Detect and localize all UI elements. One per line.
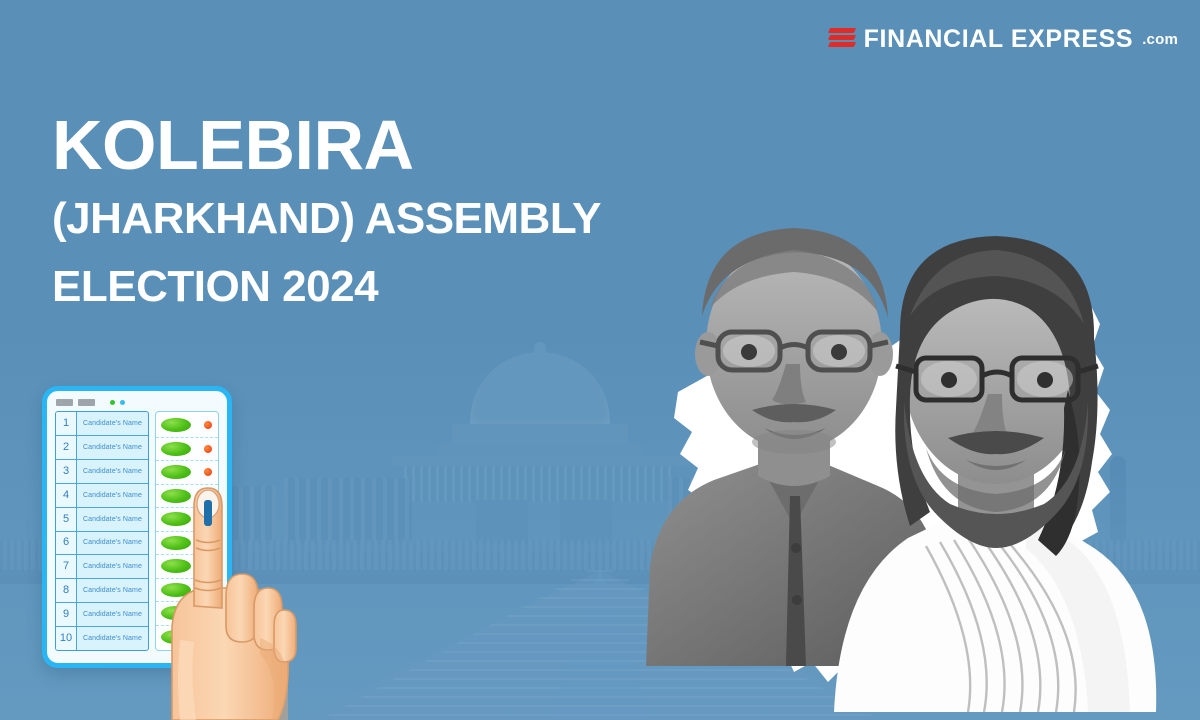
evm-candidate-name: Candidate's Name bbox=[77, 539, 148, 546]
evm-candidate-list: 1 Candidate's Name 2 Candidate's Name 3 … bbox=[55, 411, 149, 651]
evm-candidate-row[interactable]: 9 Candidate's Name bbox=[56, 603, 148, 627]
evm-candidate-row[interactable]: 4 Candidate's Name bbox=[56, 484, 148, 508]
page-title: KOLEBIRA (JHARKHAND) ASSEMBLY ELECTION 2… bbox=[52, 106, 672, 320]
evm-candidate-number: 6 bbox=[56, 532, 77, 555]
evm-candidate-number: 9 bbox=[56, 603, 77, 626]
brand-logo[interactable]: FINANCIAL EXPRESS .com bbox=[829, 22, 1178, 56]
evm-vote-led-icon bbox=[204, 421, 212, 429]
headline-line-3: ELECTION 2024 bbox=[52, 254, 672, 320]
evm-power-led-icon bbox=[110, 400, 115, 405]
evm-candidate-name: Candidate's Name bbox=[77, 516, 148, 523]
evm-slot-icon bbox=[78, 399, 95, 406]
headline-line-1: KOLEBIRA bbox=[52, 106, 672, 184]
evm-candidate-name: Candidate's Name bbox=[77, 420, 148, 427]
evm-candidate-name: Candidate's Name bbox=[77, 635, 148, 642]
evm-ready-led-icon bbox=[120, 400, 125, 405]
evm-candidate-number: 5 bbox=[56, 508, 77, 531]
headline-line-2: (JHARKHAND) ASSEMBLY bbox=[52, 184, 672, 254]
evm-candidate-row[interactable]: 6 Candidate's Name bbox=[56, 532, 148, 556]
pointing-hand-icon bbox=[172, 488, 296, 720]
evm-slot-icon bbox=[56, 399, 73, 406]
brand-suffix: .com bbox=[1142, 31, 1178, 48]
evm-candidate-name: Candidate's Name bbox=[77, 468, 148, 475]
evm-vote-button[interactable] bbox=[161, 442, 191, 456]
backdrop-left-wing bbox=[284, 478, 412, 544]
evm-candidate-row[interactable]: 10 Candidate's Name bbox=[56, 627, 148, 650]
evm-candidate-row[interactable]: 7 Candidate's Name bbox=[56, 555, 148, 579]
evm-candidate-name: Candidate's Name bbox=[77, 563, 148, 570]
evm-candidate-name: Candidate's Name bbox=[77, 492, 148, 499]
evm-candidate-row[interactable]: 2 Candidate's Name bbox=[56, 436, 148, 460]
voter-ink-mark-icon bbox=[204, 500, 212, 526]
evm-candidate-row[interactable]: 1 Candidate's Name bbox=[56, 412, 148, 436]
poster-canvas: 1 Candidate's Name 2 Candidate's Name 3 … bbox=[0, 0, 1200, 720]
evm-candidate-row[interactable]: 8 Candidate's Name bbox=[56, 579, 148, 603]
evm-candidate-number: 4 bbox=[56, 484, 77, 507]
evm-vote-row[interactable] bbox=[156, 438, 218, 462]
evm-candidate-number: 10 bbox=[56, 627, 77, 650]
evm-status-strip bbox=[56, 396, 218, 408]
evm-candidate-number: 2 bbox=[56, 436, 77, 459]
evm-candidate-number: 3 bbox=[56, 460, 77, 483]
evm-vote-button[interactable] bbox=[161, 418, 191, 432]
evm-candidate-name: Candidate's Name bbox=[77, 444, 148, 451]
evm-candidate-name: Candidate's Name bbox=[77, 611, 148, 618]
evm-vote-led-icon bbox=[204, 445, 212, 453]
evm-candidate-number: 1 bbox=[56, 412, 77, 435]
evm-candidate-row[interactable]: 5 Candidate's Name bbox=[56, 508, 148, 532]
evm-candidate-row[interactable]: 3 Candidate's Name bbox=[56, 460, 148, 484]
evm-vote-row[interactable] bbox=[156, 414, 218, 438]
evm-candidate-name: Candidate's Name bbox=[77, 587, 148, 594]
backdrop-dome-drum bbox=[452, 424, 628, 446]
financial-express-s-mark-icon bbox=[829, 26, 855, 52]
evm-candidate-number: 7 bbox=[56, 555, 77, 578]
politician-portrait-right bbox=[830, 212, 1160, 712]
pointing-hand bbox=[150, 470, 300, 720]
brand-name: FINANCIAL EXPRESS bbox=[864, 27, 1134, 52]
evm-candidate-number: 8 bbox=[56, 579, 77, 602]
